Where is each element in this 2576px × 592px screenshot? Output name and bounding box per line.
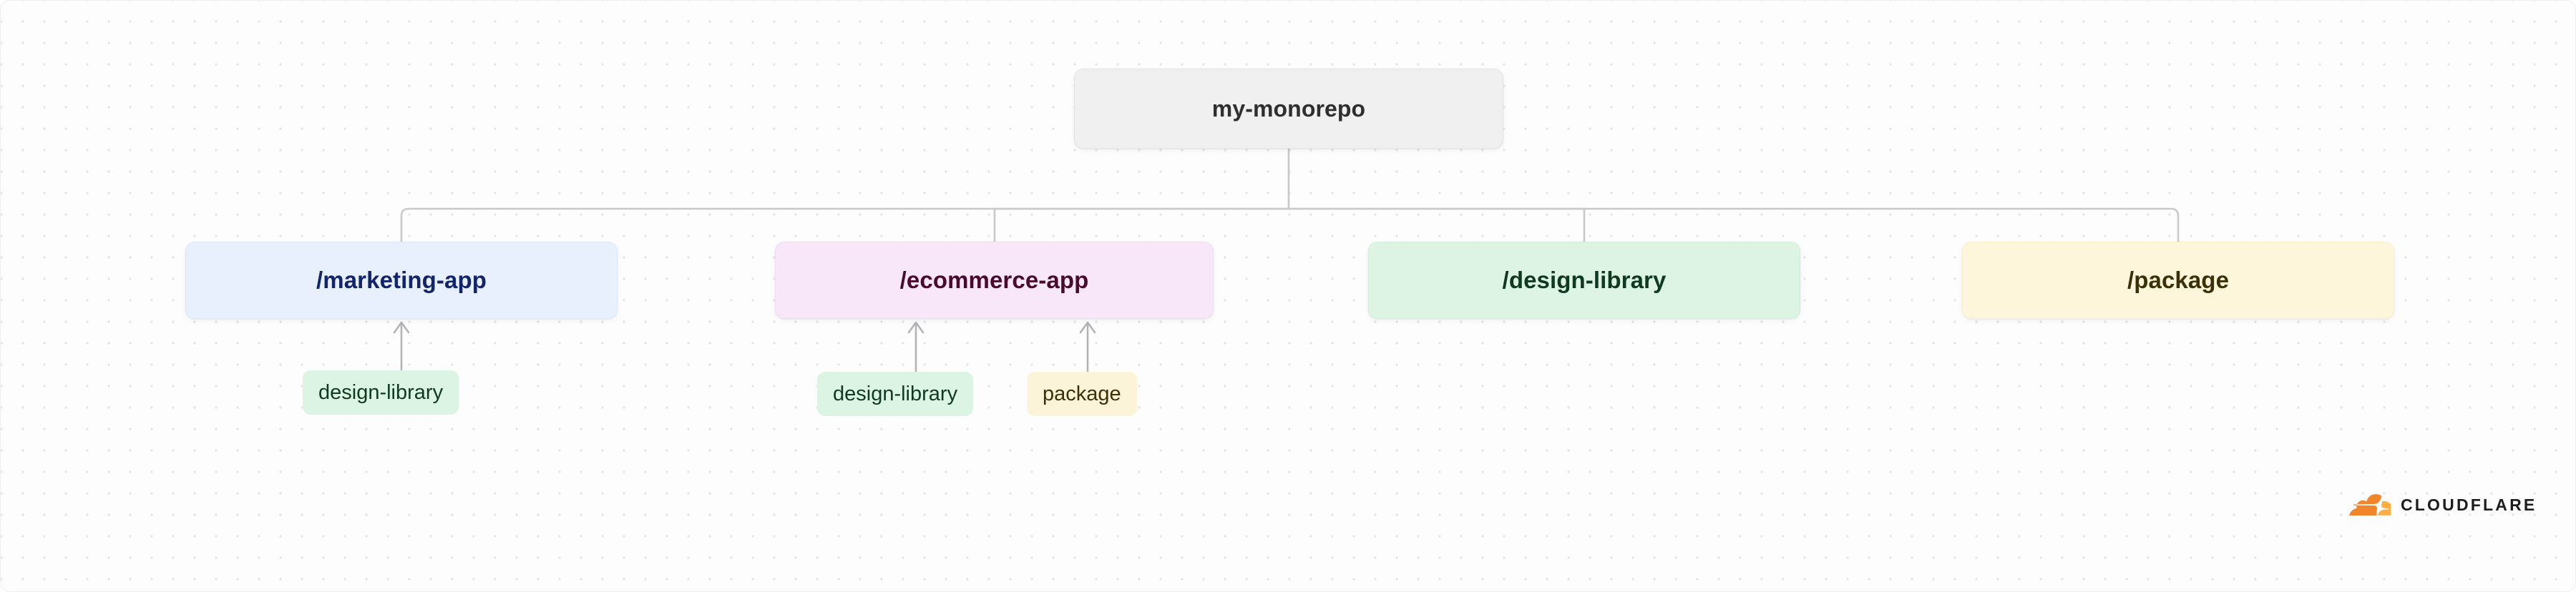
node-marketing-app[interactable]: /marketing-app bbox=[185, 242, 618, 319]
dependency-chip-label: design-library bbox=[318, 381, 443, 405]
dependency-chip-marketing-design-library[interactable]: design-library bbox=[303, 370, 459, 415]
connector-bus-package bbox=[1289, 209, 2178, 242]
node-ecommerce-app[interactable]: /ecommerce-app bbox=[775, 242, 1214, 319]
node-my-monorepo[interactable]: my-monorepo bbox=[1074, 69, 1503, 149]
node-package[interactable]: /package bbox=[1962, 242, 2394, 319]
dependency-arrow-marketing-design bbox=[394, 322, 409, 370]
dependency-chip-ecommerce-package[interactable]: package bbox=[1027, 372, 1137, 416]
node-design-library[interactable]: /design-library bbox=[1368, 242, 1800, 319]
dependency-chip-ecommerce-design-library[interactable]: design-library bbox=[817, 372, 973, 416]
cloudflare-logo: CLOUDFLARE bbox=[2349, 494, 2537, 515]
connector-bus-marketing bbox=[401, 209, 1289, 242]
cloudflare-cloud-icon bbox=[2349, 494, 2391, 515]
dependency-arrow-ecommerce-design bbox=[909, 322, 923, 372]
node-label: /marketing-app bbox=[316, 267, 487, 294]
dependency-arrow-ecommerce-package bbox=[1080, 322, 1095, 372]
cloudflare-wordmark: CLOUDFLARE bbox=[2401, 495, 2537, 515]
node-label: /design-library bbox=[1503, 267, 1667, 294]
node-label: /ecommerce-app bbox=[900, 267, 1089, 294]
connector-bus-design bbox=[1289, 209, 1584, 242]
diagram-canvas: my-monorepo /marketing-app /ecommerce-ap… bbox=[0, 0, 2576, 592]
node-label: /package bbox=[2127, 267, 2229, 294]
node-label: my-monorepo bbox=[1212, 96, 1365, 122]
dependency-chip-label: package bbox=[1043, 383, 1121, 406]
dependency-chip-label: design-library bbox=[833, 383, 957, 406]
connector-bus-ecommerce bbox=[995, 209, 1289, 242]
